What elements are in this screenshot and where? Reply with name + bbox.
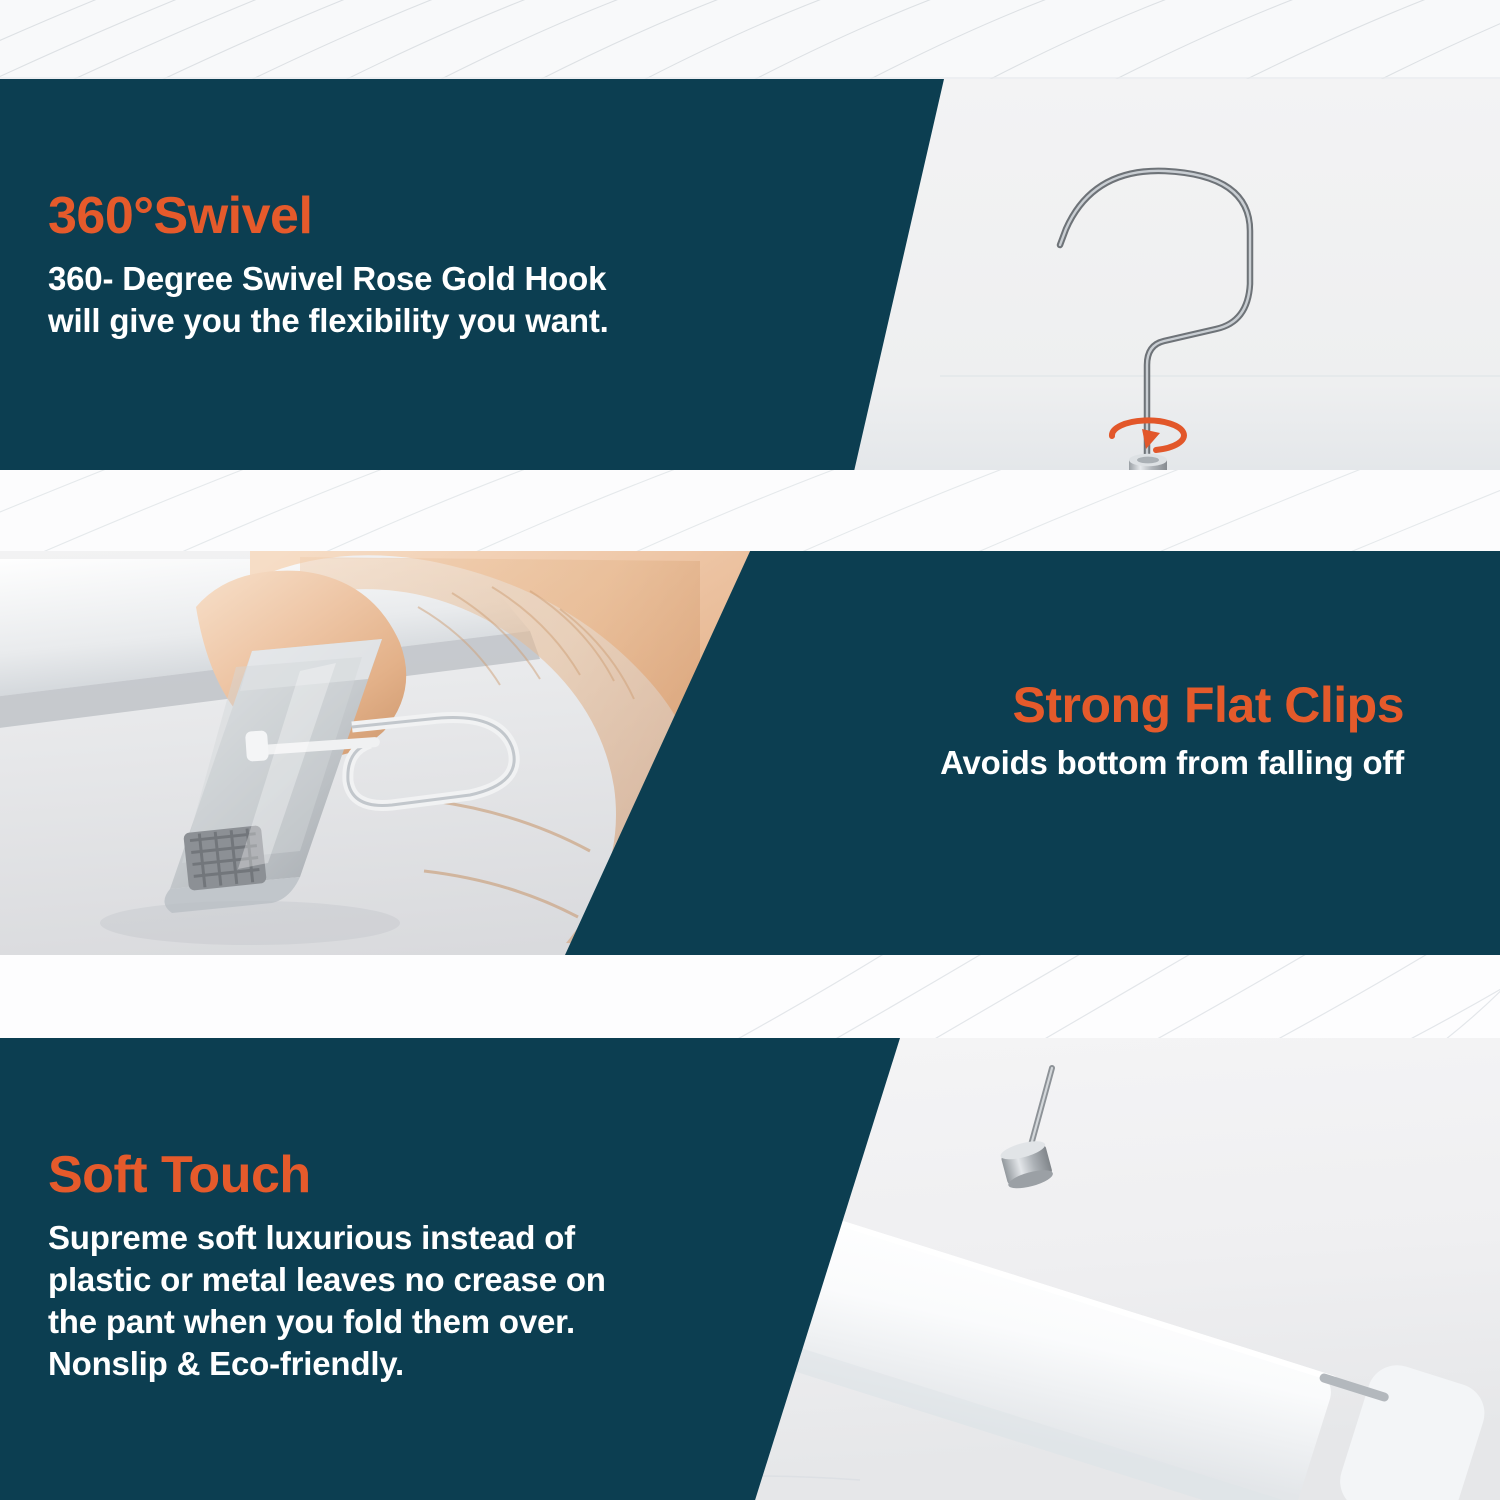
panel-3-body-line-4: Nonslip & Eco-friendly. <box>48 1343 606 1385</box>
panel-2-heading: Strong Flat Clips <box>940 679 1404 732</box>
panel-2-body: Avoids bottom from falling off <box>940 742 1404 784</box>
panel-3-body: Supreme soft luxurious instead of plasti… <box>48 1217 606 1386</box>
panel-2-text-block: Strong Flat Clips Avoids bottom from fal… <box>940 679 1404 784</box>
panel-1-heading: 360°Swivel <box>48 189 609 244</box>
product-feature-infographic: 360°Swivel 360- Degree Swivel Rose Gold … <box>0 0 1500 1500</box>
panel-1-body-line-1: 360- Degree Swivel Rose Gold Hook <box>48 258 609 300</box>
feature-panel-soft-touch: Soft Touch Supreme soft luxurious instea… <box>0 1038 1500 1500</box>
texture-lines-middle-1 <box>0 470 1500 551</box>
panel-3-heading: Soft Touch <box>48 1148 606 1203</box>
panel-2-body-line-1: Avoids bottom from falling off <box>940 742 1404 784</box>
texture-lines-top <box>0 0 1500 79</box>
background-texture-middle-1 <box>0 470 1500 551</box>
panel-1-body: 360- Degree Swivel Rose Gold Hook will g… <box>48 258 609 342</box>
texture-lines-middle-2 <box>0 955 1500 1038</box>
panel-1-body-line-2: will give you the flexibility you want. <box>48 300 609 342</box>
panel-1-text-block: 360°Swivel 360- Degree Swivel Rose Gold … <box>48 189 609 342</box>
background-texture-top <box>0 0 1500 79</box>
background-texture-middle-2 <box>0 955 1500 1038</box>
panel-3-body-line-3: the pant when you fold them over. <box>48 1301 606 1343</box>
panel-3-text-block: Soft Touch Supreme soft luxurious instea… <box>48 1148 606 1386</box>
feature-panel-clips: Strong Flat Clips Avoids bottom from fal… <box>0 551 1500 955</box>
panel-3-body-line-1: Supreme soft luxurious instead of <box>48 1217 606 1259</box>
feature-panel-swivel: 360°Swivel 360- Degree Swivel Rose Gold … <box>0 79 1500 470</box>
panel-3-body-line-2: plastic or metal leaves no crease on <box>48 1259 606 1301</box>
